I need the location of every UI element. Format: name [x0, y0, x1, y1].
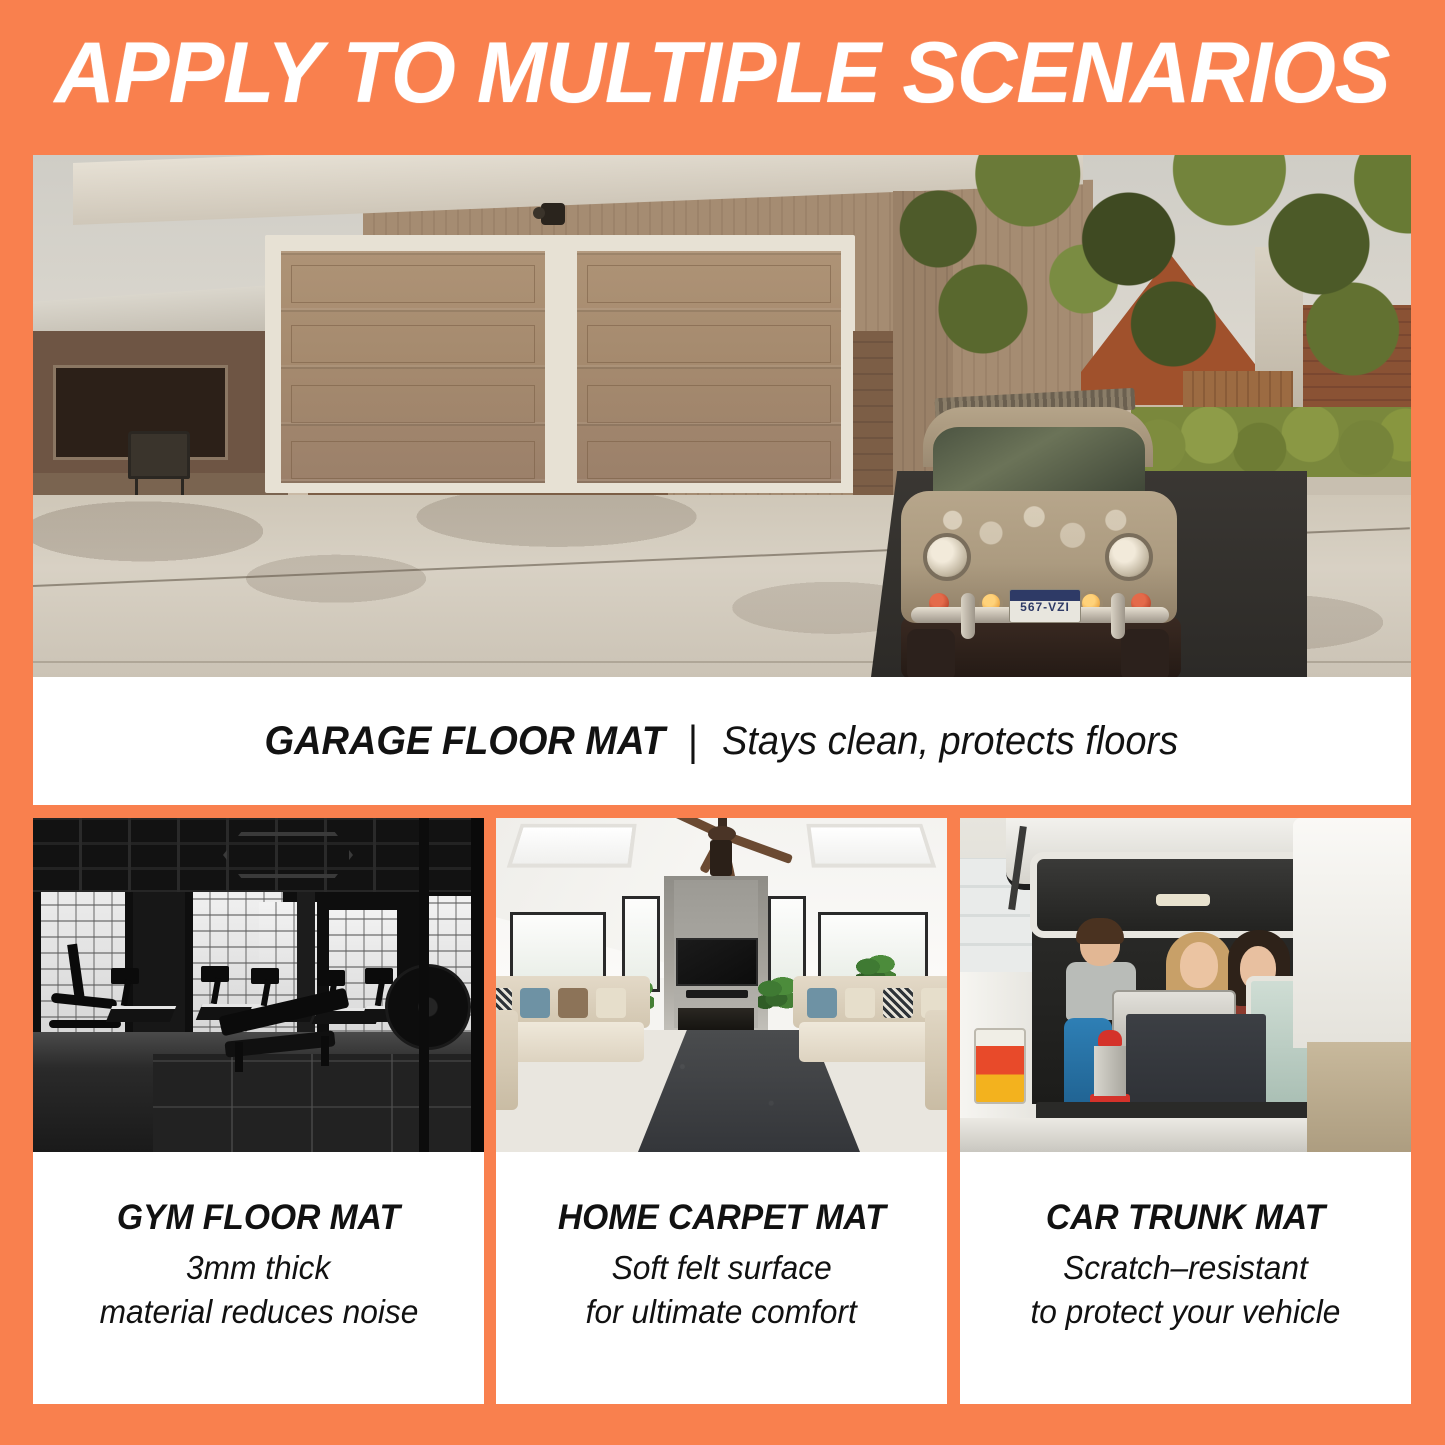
trunk-caption: CAR TRUNK MAT Scratch–resistant to prote…	[960, 1152, 1411, 1404]
garage-door-left	[277, 247, 549, 487]
soundbar	[686, 990, 748, 998]
bumper-guard-left	[961, 593, 975, 639]
adult-khaki-pants	[1307, 1042, 1411, 1152]
throw-pillow	[845, 988, 875, 1018]
trunk-caption-title: CAR TRUNK MAT	[1046, 1198, 1325, 1238]
skylight-left	[507, 824, 637, 868]
sofa-right	[793, 976, 947, 1114]
sofa-seat	[496, 1022, 644, 1062]
sofa-left	[496, 976, 650, 1114]
home-caption-line2: for ultimate comfort	[586, 1290, 857, 1334]
home-caption-title: HOME CARPET MAT	[558, 1198, 886, 1238]
car-windshield	[933, 423, 1145, 501]
garage-door-right	[573, 247, 845, 487]
car-trunk-photo	[960, 818, 1411, 1152]
tail-light	[974, 1028, 1026, 1104]
gym-caption-line2: material reduces noise	[99, 1290, 418, 1334]
skylight-right	[806, 824, 936, 868]
trunk-caption-line2: to protect your vehicle	[1031, 1290, 1341, 1334]
garage-panel-inset	[291, 265, 535, 303]
scenario-tile-trunk: CAR TRUNK MAT Scratch–resistant to prote…	[960, 818, 1411, 1404]
page-title: APPLY TO MULTIPLE SCENARIOS	[55, 30, 1390, 122]
throw-pillow	[883, 988, 913, 1018]
garage-panel-inset	[587, 441, 831, 479]
garage-panel-inset	[587, 385, 831, 423]
car-wheel-left	[907, 629, 955, 677]
dome-light-icon	[1156, 894, 1210, 906]
squat-rack-post	[471, 818, 484, 1152]
car-wheel-right	[1121, 629, 1169, 677]
bench-leg	[235, 1042, 243, 1072]
tree-canopy	[871, 155, 1411, 379]
home-caption-line1: Soft felt surface	[611, 1246, 831, 1290]
garage-scene-photo: 6045	[33, 155, 1411, 677]
hex-light-fixture-icon	[223, 832, 353, 878]
hero-caption-separator: |	[688, 717, 698, 765]
gym-caption: GYM FLOOR MAT 3mm thick material reduces…	[33, 1152, 484, 1404]
garage-panel-inset	[587, 265, 831, 303]
exterior-light-icon	[541, 203, 565, 225]
headlight-right	[1105, 533, 1153, 581]
gym-caption-title: GYM FLOOR MAT	[117, 1198, 400, 1238]
bumper-guard-right	[1111, 593, 1125, 639]
potted-plant	[758, 976, 798, 1018]
hero-panel: 6045	[33, 155, 1411, 805]
scenario-tiles-row: GYM FLOOR MAT 3mm thick material reduces…	[33, 818, 1411, 1404]
garage-panel-inset	[291, 325, 535, 363]
garage-panel-inset	[291, 385, 535, 423]
headlight-left	[923, 533, 971, 581]
throw-pillow	[558, 988, 588, 1018]
gym-scene	[33, 818, 484, 1152]
adult-white-shirt	[1293, 818, 1411, 1048]
trunk-caption-line1: Scratch–resistant	[1063, 1246, 1308, 1290]
throw-pillow	[807, 988, 837, 1018]
weight-bench	[219, 994, 355, 1072]
lantern-glass	[1094, 1046, 1126, 1096]
living-room-photo	[496, 818, 947, 1152]
throw-pillow	[596, 988, 626, 1018]
scenario-tile-gym: GYM FLOOR MAT 3mm thick material reduces…	[33, 818, 484, 1404]
vintage-car: 567-VZI	[893, 393, 1313, 677]
gym-caption-line1: 3mm thick	[186, 1246, 330, 1290]
header-banner: APPLY TO MULTIPLE SCENARIOS	[0, 0, 1445, 152]
license-plate: 567-VZI	[1009, 589, 1081, 623]
garage-panel-inset	[587, 325, 831, 363]
hero-caption: GARAGE FLOOR MAT | Stays clean, protects…	[33, 677, 1411, 805]
home-caption: HOME CARPET MAT Soft felt surface for ul…	[496, 1152, 947, 1404]
treadmill	[109, 968, 173, 1030]
sofa-arm	[496, 1010, 518, 1110]
bench-pad	[218, 988, 349, 1037]
child-hair	[1076, 918, 1124, 944]
sofa-arm	[925, 1010, 947, 1110]
garage-panel-inset	[291, 441, 535, 479]
patio-chair	[128, 431, 190, 479]
lantern-cap	[1098, 1030, 1122, 1046]
squat-rack-post	[419, 818, 429, 1152]
throw-pillow	[520, 988, 550, 1018]
hero-caption-subtitle: Stays clean, protects floors	[722, 719, 1178, 764]
gym-photo	[33, 818, 484, 1152]
car-trunk-scene	[960, 818, 1411, 1152]
treadmill-deck	[106, 1006, 176, 1022]
wall-mounted-tv	[676, 938, 758, 986]
woman-face	[1180, 942, 1218, 988]
living-room-scene	[496, 818, 947, 1152]
scenario-tile-home: HOME CARPET MAT Soft felt surface for ul…	[496, 818, 947, 1404]
hero-caption-title: GARAGE FLOOR MAT	[264, 719, 664, 764]
gym-ceiling	[33, 818, 484, 892]
ceiling-fan-motor	[710, 840, 732, 876]
